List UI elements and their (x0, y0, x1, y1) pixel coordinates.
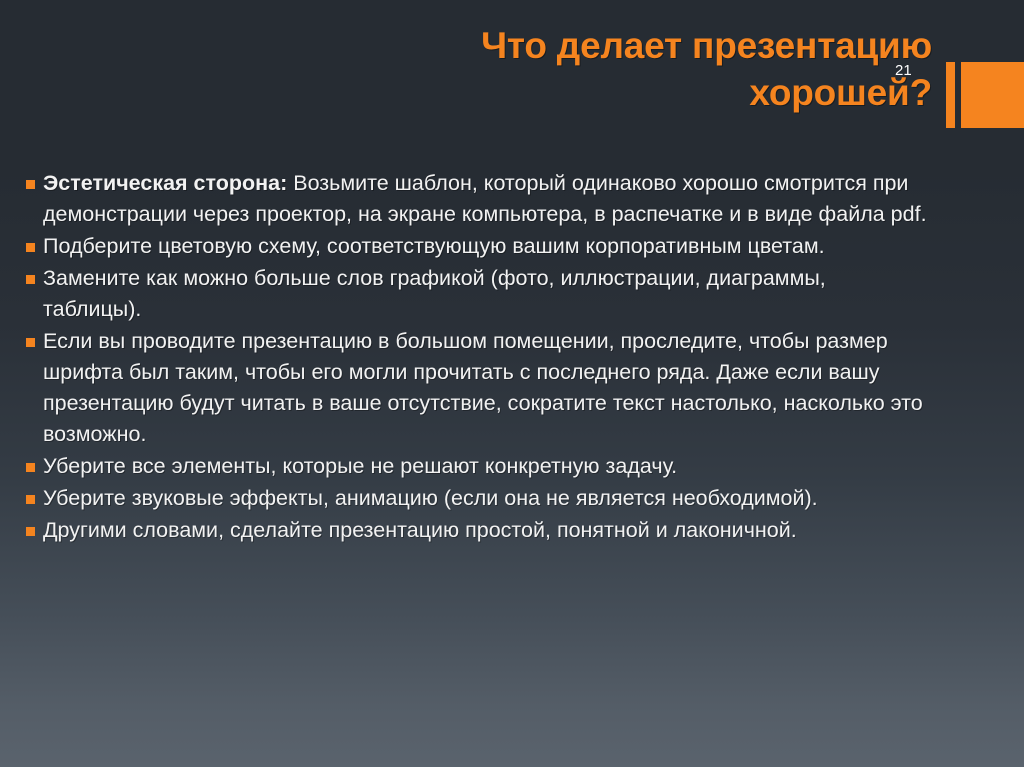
decorative-rectangle (961, 62, 1024, 128)
list-item: Уберите все элементы, которые не решают … (24, 451, 929, 482)
square-bullet-icon (26, 527, 35, 536)
list-item: Эстетическая сторона: Возьмите шаблон, к… (24, 168, 929, 230)
list-item-text: Другими словами, сделайте презентацию пр… (43, 518, 797, 542)
slide-title: Что делает презентацию хорошей? (180, 22, 932, 116)
square-bullet-icon (26, 495, 35, 504)
list-item-text: Уберите звуковые эффекты, анимацию (если… (43, 486, 818, 510)
list-item: Подберите цветовую схему, соответствующу… (24, 231, 929, 262)
square-bullet-icon (26, 180, 35, 189)
presentation-slide: Что делает презентацию хорошей? 21 Эстет… (0, 0, 1024, 767)
list-item: Уберите звуковые эффекты, анимацию (если… (24, 483, 929, 514)
square-bullet-icon (26, 243, 35, 252)
square-bullet-icon (26, 338, 35, 347)
slide-body: Эстетическая сторона: Возьмите шаблон, к… (24, 168, 929, 547)
square-bullet-icon (26, 275, 35, 284)
list-item-text: Если вы проводите презентацию в большом … (43, 329, 923, 446)
list-item: Другими словами, сделайте презентацию пр… (24, 515, 929, 546)
square-bullet-icon (26, 463, 35, 472)
list-item-text: Уберите все элементы, которые не решают … (43, 454, 677, 478)
list-item-text: Замените как можно больше слов графикой … (43, 266, 826, 321)
page-number: 21 (895, 62, 912, 79)
list-item: Если вы проводите презентацию в большом … (24, 326, 929, 450)
list-item: Замените как можно больше слов графикой … (24, 263, 929, 325)
decorative-vertical-bar (946, 62, 955, 128)
list-item-lead: Эстетическая сторона: (43, 171, 287, 195)
slide-title-text: Что делает презентацию хорошей? (180, 22, 932, 116)
list-item-text: Подберите цветовую схему, соответствующу… (43, 234, 825, 258)
